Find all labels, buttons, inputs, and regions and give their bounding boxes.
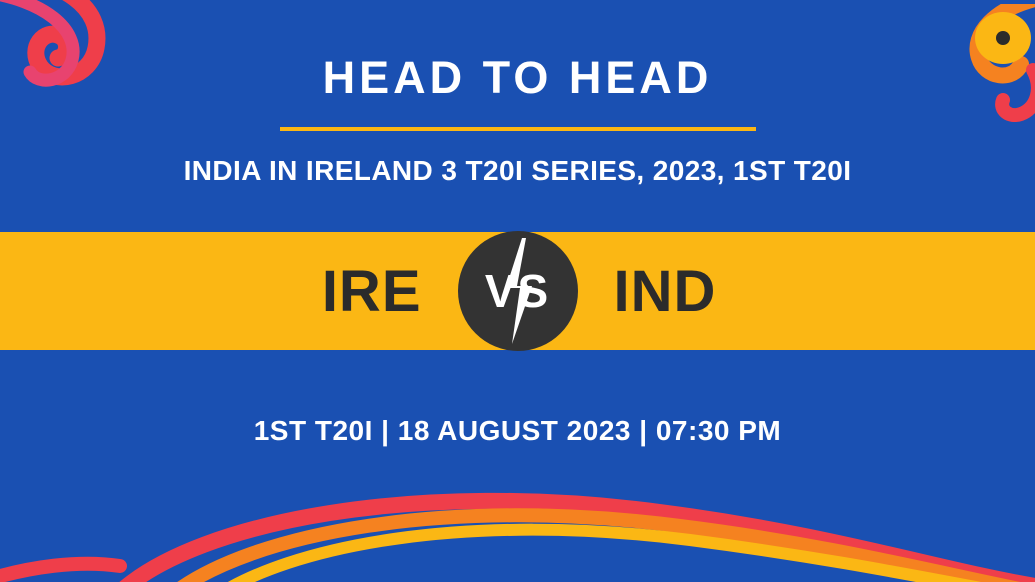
lightning-bolt-icon bbox=[496, 236, 540, 346]
head-to-head-poster: HEAD TO HEAD INDIA IN IRELAND 3 T20I SER… bbox=[0, 0, 1035, 582]
swirl-bottom-icon bbox=[0, 474, 1035, 582]
match-band-content: IRE VS IND bbox=[0, 232, 1035, 350]
versus-badge: VS bbox=[458, 231, 578, 351]
match-info-line: 1ST T20I | 18 AUGUST 2023 | 07:30 PM bbox=[0, 415, 1035, 447]
series-subtitle: INDIA IN IRELAND 3 T20I SERIES, 2023, 1S… bbox=[0, 155, 1035, 187]
page-title: HEAD TO HEAD bbox=[0, 52, 1035, 104]
team-right-label: IND bbox=[578, 258, 768, 325]
team-left-label: IRE bbox=[268, 258, 458, 325]
title-divider bbox=[280, 127, 756, 131]
